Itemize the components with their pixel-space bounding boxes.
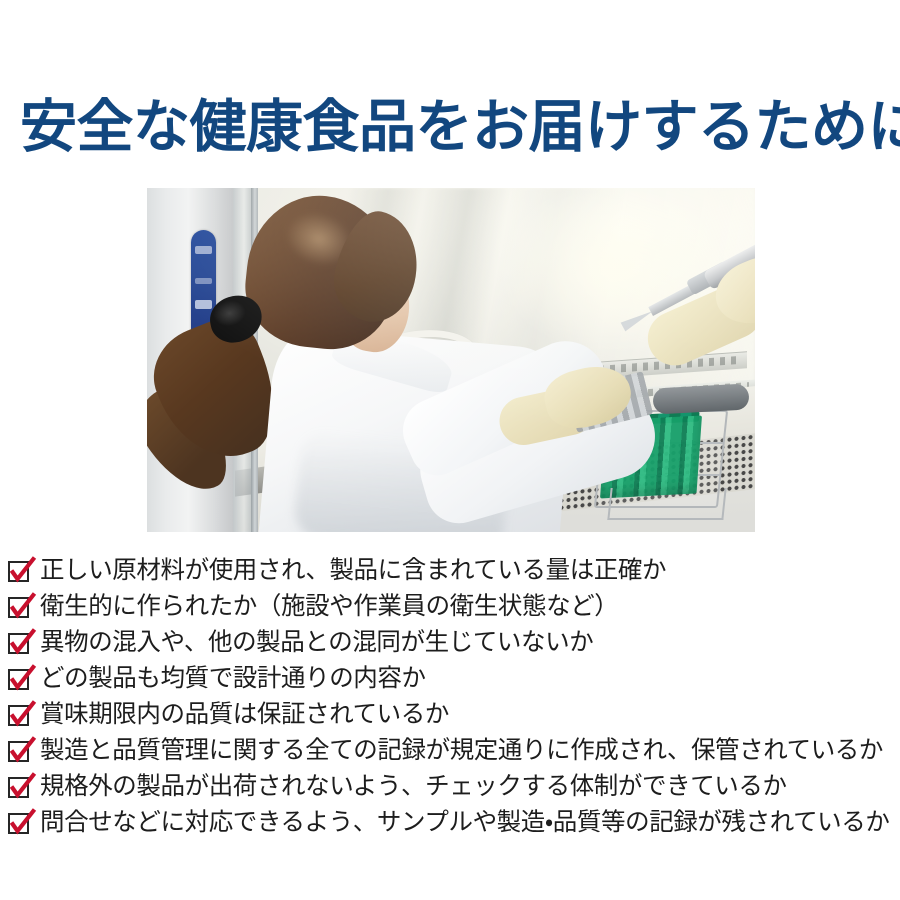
page-title: 安全な健康食品をお届けするために [20, 90, 890, 166]
checklist-item-label: 規格外の製品が出荷されないよう、チェックする体制ができているか [40, 772, 787, 802]
checkbox-checked-icon[interactable] [8, 669, 29, 690]
checklist-item[interactable]: 正しい原材料が使用され、製品に含まれている量は正確か [8, 556, 898, 592]
checkbox-checked-icon[interactable] [8, 777, 29, 798]
checklist-item-label: 異物の混入や、他の製品との混同が生じていないか [40, 628, 593, 658]
checkbox-checked-icon[interactable] [8, 705, 29, 726]
laboratory-photo [147, 188, 755, 532]
checkbox-checked-icon[interactable] [8, 597, 29, 618]
checkbox-checked-icon[interactable] [8, 813, 29, 834]
checklist-item[interactable]: 問合せなどに対応できるよう、サンプルや製造・品質等の記録が残されているか [8, 808, 898, 844]
checklist: 正しい原材料が使用され、製品に含まれている量は正確か 衛生的に作られたか（施設や… [8, 556, 898, 844]
page-root: 安全な健康食品をお届けするために [0, 0, 900, 900]
checklist-item-label: 衛生的に作られたか（施設や作業員の衛生状態など） [40, 592, 618, 622]
control-panel-display-icon [195, 246, 212, 254]
checklist-item[interactable]: 衛生的に作られたか（施設や作業員の衛生状態など） [8, 592, 898, 628]
control-panel-readout-icon [195, 300, 212, 309]
checklist-item[interactable]: どの製品も均質で設計通りの内容か [8, 664, 898, 700]
checklist-item[interactable]: 製造と品質管理に関する全ての記録が規定通りに作成され、保管されているか [8, 736, 898, 772]
checkbox-checked-icon[interactable] [8, 741, 29, 762]
checklist-item[interactable]: 異物の混入や、他の製品との混同が生じていないか [8, 628, 898, 664]
checkbox-checked-icon[interactable] [8, 561, 29, 582]
wire-rack-legs [607, 488, 726, 520]
checklist-item[interactable]: 賞味期限内の品質は保証されているか [8, 700, 898, 736]
rack-handle [652, 384, 749, 415]
checklist-item[interactable]: 規格外の製品が出荷されないよう、チェックする体制ができているか [8, 772, 898, 808]
checklist-item-label: どの製品も均質で設計通りの内容か [40, 664, 426, 694]
checkbox-checked-icon[interactable] [8, 633, 29, 654]
checklist-item-label: 問合せなどに対応できるよう、サンプルや製造・品質等の記録が残されているか [40, 808, 889, 838]
checklist-item-label: 製造と品質管理に関する全ての記録が規定通りに作成され、保管されているか [40, 736, 883, 766]
checklist-item-label: 正しい原材料が使用され、製品に含まれている量は正確か [40, 556, 666, 586]
checklist-item-label: 賞味期限内の品質は保証されているか [40, 700, 449, 730]
control-panel-indicator-icon [195, 278, 212, 284]
